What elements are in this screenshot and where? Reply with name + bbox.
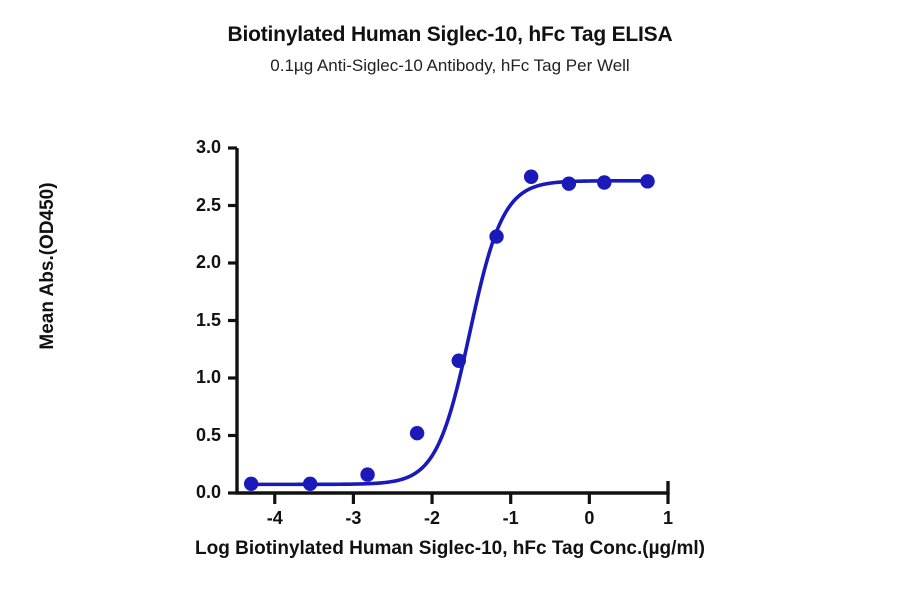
data-point <box>360 467 374 481</box>
data-point <box>452 354 466 368</box>
x-tick-label-3: -1 <box>486 508 536 529</box>
data-point <box>562 176 576 190</box>
y-tick-label-6: 3.0 <box>175 137 221 158</box>
y-tick-label-5: 2.5 <box>175 195 221 216</box>
y-tick-label-1: 0.5 <box>175 425 221 446</box>
y-tick-label-2: 1.0 <box>175 367 221 388</box>
x-tick-label-1: -3 <box>328 508 378 529</box>
sigmoid-fit-line <box>251 181 647 485</box>
x-axis-title: Log Biotinylated Human Siglec-10, hFc Ta… <box>0 538 900 560</box>
data-point <box>524 170 538 184</box>
y-tick-label-0: 0.0 <box>175 482 221 503</box>
fit-curve <box>251 181 647 485</box>
y-axis-title: Mean Abs.(OD450) <box>37 116 59 416</box>
data-point <box>410 426 424 440</box>
data-point <box>597 175 611 189</box>
data-point <box>303 477 317 491</box>
data-points <box>244 170 655 491</box>
axis-spines <box>237 148 668 493</box>
data-point <box>244 477 258 491</box>
y-tick-label-3: 1.5 <box>175 310 221 331</box>
plot-svg <box>0 0 900 594</box>
axes <box>228 148 668 504</box>
x-tick-label-5: 1 <box>643 508 693 529</box>
y-tick-label-4: 2.0 <box>175 252 221 273</box>
x-tick-label-2: -2 <box>407 508 457 529</box>
x-tick-label-4: 0 <box>564 508 614 529</box>
x-tick-label-0: -4 <box>250 508 300 529</box>
data-point <box>640 174 654 188</box>
chart-figure: Biotinylated Human Siglec-10, hFc Tag EL… <box>0 0 900 594</box>
plot-area: 0.00.51.01.52.02.53.0 -4-3-2-101 Mean Ab… <box>0 0 900 594</box>
data-point <box>489 229 503 243</box>
